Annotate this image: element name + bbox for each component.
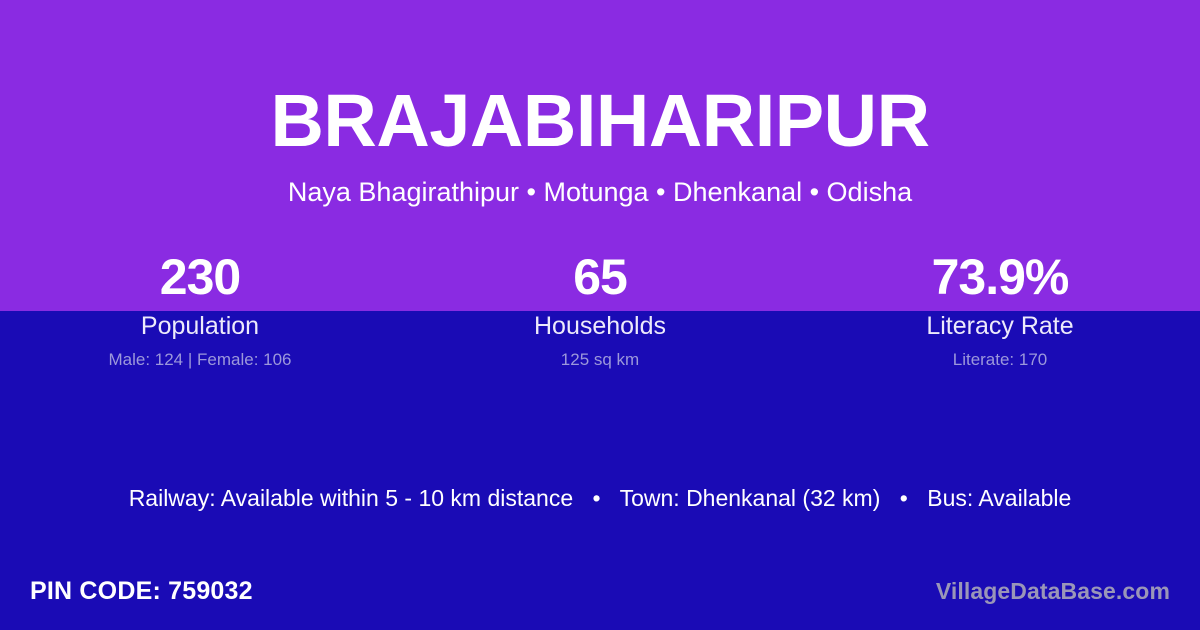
- stat-households-value: 65: [400, 248, 800, 306]
- stat-households-label: Households: [400, 312, 800, 341]
- stat-population-breakdown: Male: 124 | Female: 106: [0, 350, 400, 370]
- village-name-title: BRAJABIHARIPUR: [0, 0, 1200, 158]
- stat-households: 65 Households 125 sq km: [400, 248, 800, 370]
- stat-population-label: Population: [0, 312, 400, 341]
- pin-code-label: PIN CODE: 759032: [30, 577, 253, 606]
- infrastructure-line: Railway: Available within 5 - 10 km dist…: [0, 484, 1200, 512]
- bullet-separator-icon: •: [887, 484, 921, 512]
- infra-town: Town: Dhenkanal (32 km): [620, 485, 881, 511]
- infra-railway: Railway: Available within 5 - 10 km dist…: [129, 485, 573, 511]
- bullet-separator-icon: •: [580, 484, 614, 512]
- stat-literacy-value: 73.9%: [800, 248, 1200, 306]
- stat-literacy: 73.9% Literacy Rate Literate: 170: [800, 248, 1200, 370]
- card-footer: PIN CODE: 759032 VillageDataBase.com: [0, 552, 1200, 630]
- card-header: BRAJABIHARIPUR Naya Bhagirathipur • Motu…: [0, 0, 1200, 208]
- stat-population-value: 230: [0, 248, 400, 306]
- stat-population: 230 Population Male: 124 | Female: 106: [0, 248, 400, 370]
- infra-bus: Bus: Available: [927, 485, 1071, 511]
- village-location-breadcrumb: Naya Bhagirathipur • Motunga • Dhenkanal…: [0, 158, 1200, 208]
- stat-literacy-count: Literate: 170: [800, 350, 1200, 370]
- stat-households-area: 125 sq km: [400, 350, 800, 370]
- statistics-row: 230 Population Male: 124 | Female: 106 6…: [0, 248, 1200, 370]
- village-info-card: BRAJABIHARIPUR Naya Bhagirathipur • Motu…: [0, 0, 1200, 630]
- stat-literacy-label: Literacy Rate: [800, 312, 1200, 341]
- site-brand-label: VillageDataBase.com: [936, 578, 1170, 605]
